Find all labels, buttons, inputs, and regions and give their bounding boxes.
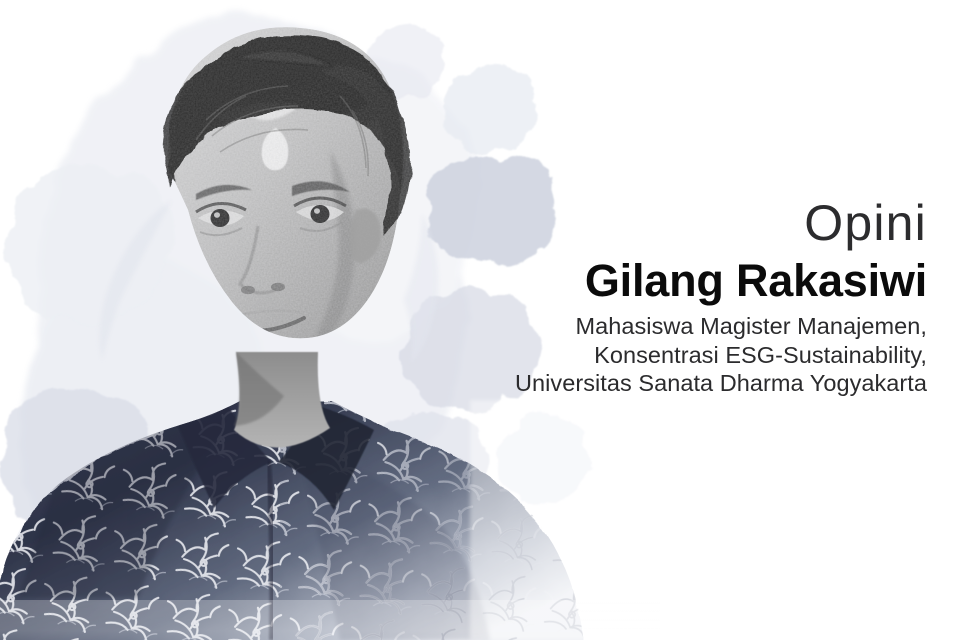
neck bbox=[234, 352, 330, 448]
text-block: Opini Gilang Rakasiwi Mahasiswa Magister… bbox=[457, 196, 927, 398]
affiliation-line-2: Konsentrasi ESG-Sustainability, bbox=[457, 341, 927, 370]
author-name: Gilang Rakasiwi bbox=[457, 256, 927, 306]
kicker-opini: Opini bbox=[457, 196, 927, 250]
affiliation: Mahasiswa Magister Manajemen, Konsentras… bbox=[457, 312, 927, 398]
affiliation-line-1: Mahasiswa Magister Manajemen, bbox=[457, 312, 927, 341]
opinion-banner-card: Opini Gilang Rakasiwi Mahasiswa Magister… bbox=[0, 0, 960, 640]
affiliation-line-3: Universitas Sanata Dharma Yogyakarta bbox=[457, 369, 927, 398]
